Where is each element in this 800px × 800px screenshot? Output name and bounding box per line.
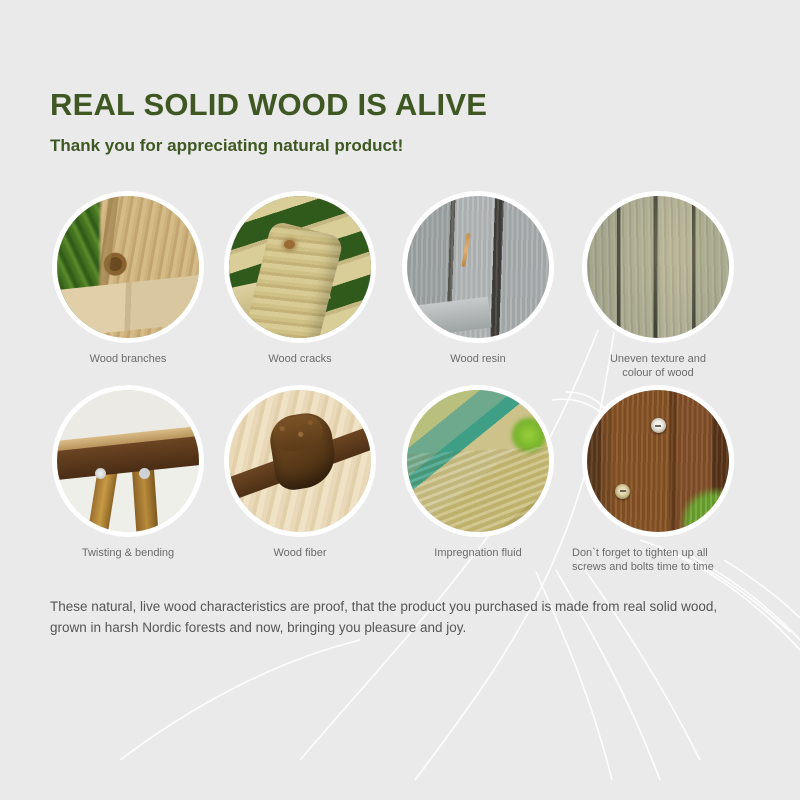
impregnation-fluid-thumbnail[interactable]	[407, 390, 549, 532]
wood-branches-photo	[57, 196, 199, 338]
wood-branches-thumbnail[interactable]	[57, 196, 199, 338]
wood-cracks-thumbnail[interactable]	[229, 196, 371, 338]
feature-caption: Impregnation fluid	[388, 546, 568, 560]
page-subtitle: Thank you for appreciating natural produ…	[50, 135, 403, 157]
feature-caption: Twisting & bending	[38, 546, 218, 560]
feature-item-wood-resin[interactable]: Wood resin	[388, 196, 568, 366]
twisting-bending-thumbnail[interactable]	[57, 390, 199, 532]
wood-fiber-thumbnail[interactable]	[229, 390, 371, 532]
twisting-bending-photo	[57, 390, 199, 532]
page-title: REAL SOLID WOOD IS ALIVE	[50, 86, 487, 124]
poster-canvas: REAL SOLID WOOD IS ALIVE Thank you for a…	[0, 0, 800, 800]
wood-resin-thumbnail[interactable]	[407, 196, 549, 338]
feature-caption: Wood branches	[38, 352, 218, 366]
uneven-texture-photo	[587, 196, 729, 338]
uneven-texture-thumbnail[interactable]	[587, 196, 729, 338]
wood-resin-photo	[407, 196, 549, 338]
feature-item-uneven-texture[interactable]: Uneven texture and colour of wood	[568, 196, 748, 380]
feature-item-wood-cracks[interactable]: Wood cracks	[210, 196, 390, 366]
feature-item-screws-bolts[interactable]: Don`t forget to tighten up all screws an…	[568, 390, 748, 574]
feature-caption: Wood cracks	[210, 352, 390, 366]
closing-paragraph: These natural, live wood characteristics…	[50, 596, 750, 638]
wood-cracks-photo	[229, 196, 371, 338]
feature-item-impregnation-fluid[interactable]: Impregnation fluid	[388, 390, 568, 560]
wood-fiber-photo	[229, 390, 371, 532]
feature-caption: Don`t forget to tighten up all screws an…	[568, 546, 748, 574]
feature-caption: Uneven texture and colour of wood	[568, 352, 748, 380]
feature-item-twisting-bending[interactable]: Twisting & bending	[38, 390, 218, 560]
feature-item-wood-fiber[interactable]: Wood fiber	[210, 390, 390, 560]
feature-caption: Wood fiber	[210, 546, 390, 560]
screws-bolts-thumbnail[interactable]	[587, 390, 729, 532]
feature-item-wood-branches[interactable]: Wood branches	[38, 196, 218, 366]
screws-bolts-photo	[587, 390, 729, 532]
impregnation-fluid-photo	[407, 390, 549, 532]
feature-caption: Wood resin	[388, 352, 568, 366]
